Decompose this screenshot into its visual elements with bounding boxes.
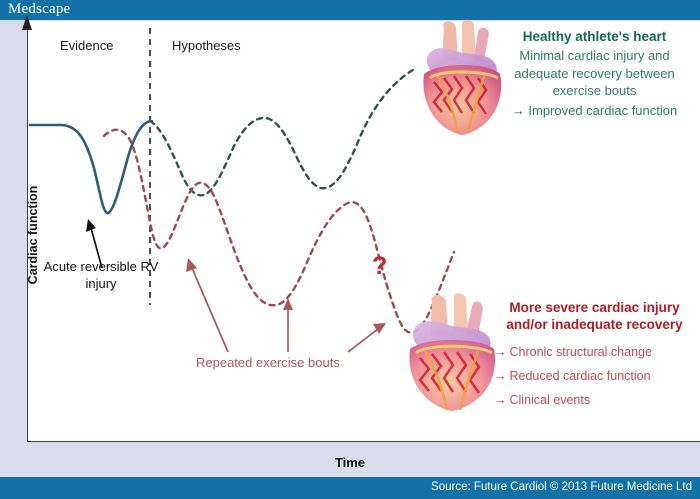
healthy-outcome-text: Improved cardiac function	[528, 103, 677, 118]
severe-outcome-list: →Chronic structural change →Reduced card…	[492, 340, 697, 412]
list-item: →Clinical events	[494, 388, 697, 412]
figure-root: Medscape	[0, 0, 700, 499]
right-arrow-icon: →	[494, 393, 507, 407]
x-axis-label: Time	[0, 455, 700, 470]
section-label-hypotheses: Hypotheses	[172, 38, 241, 53]
healthy-outcome-block: Healthy athlete's heart Minimal cardiac …	[492, 28, 697, 119]
right-arrow-icon: →	[494, 345, 507, 359]
medscape-header-bar: Medscape	[0, 0, 700, 20]
severe-item-text: Reduced cardiac function	[510, 369, 651, 383]
source-footer-bar: Source: Future Cardiol © 2013 Future Med…	[0, 477, 700, 499]
healthy-outcome-row: → Improved cardiac function	[492, 102, 697, 120]
right-arrow-icon: →	[512, 103, 525, 118]
severe-item-text: Clinical events	[510, 393, 591, 407]
annotation-rv-injury: Acute reversible RV injury	[36, 258, 166, 292]
list-item: →Chronic structural change	[494, 340, 697, 364]
healthy-description: Minimal cardiac injury and adequate reco…	[492, 47, 697, 100]
healthy-title: Healthy athlete's heart	[492, 28, 697, 45]
question-mark-marker: ?	[372, 252, 387, 281]
source-attribution: Source: Future Cardiol © 2013 Future Med…	[431, 481, 692, 493]
severe-title: More severe cardiac injury and/or inadeq…	[492, 299, 697, 333]
section-label-evidence: Evidence	[60, 38, 113, 53]
severe-outcome-block: More severe cardiac injury and/or inadeq…	[492, 299, 697, 412]
medscape-logo: Medscape	[8, 1, 70, 18]
right-arrow-icon: →	[494, 369, 507, 383]
severe-item-text: Chronic structural change	[510, 345, 652, 359]
list-item: →Reduced cardiac function	[494, 364, 697, 388]
annotation-repeated-bouts: Repeated exercise bouts	[196, 355, 340, 370]
